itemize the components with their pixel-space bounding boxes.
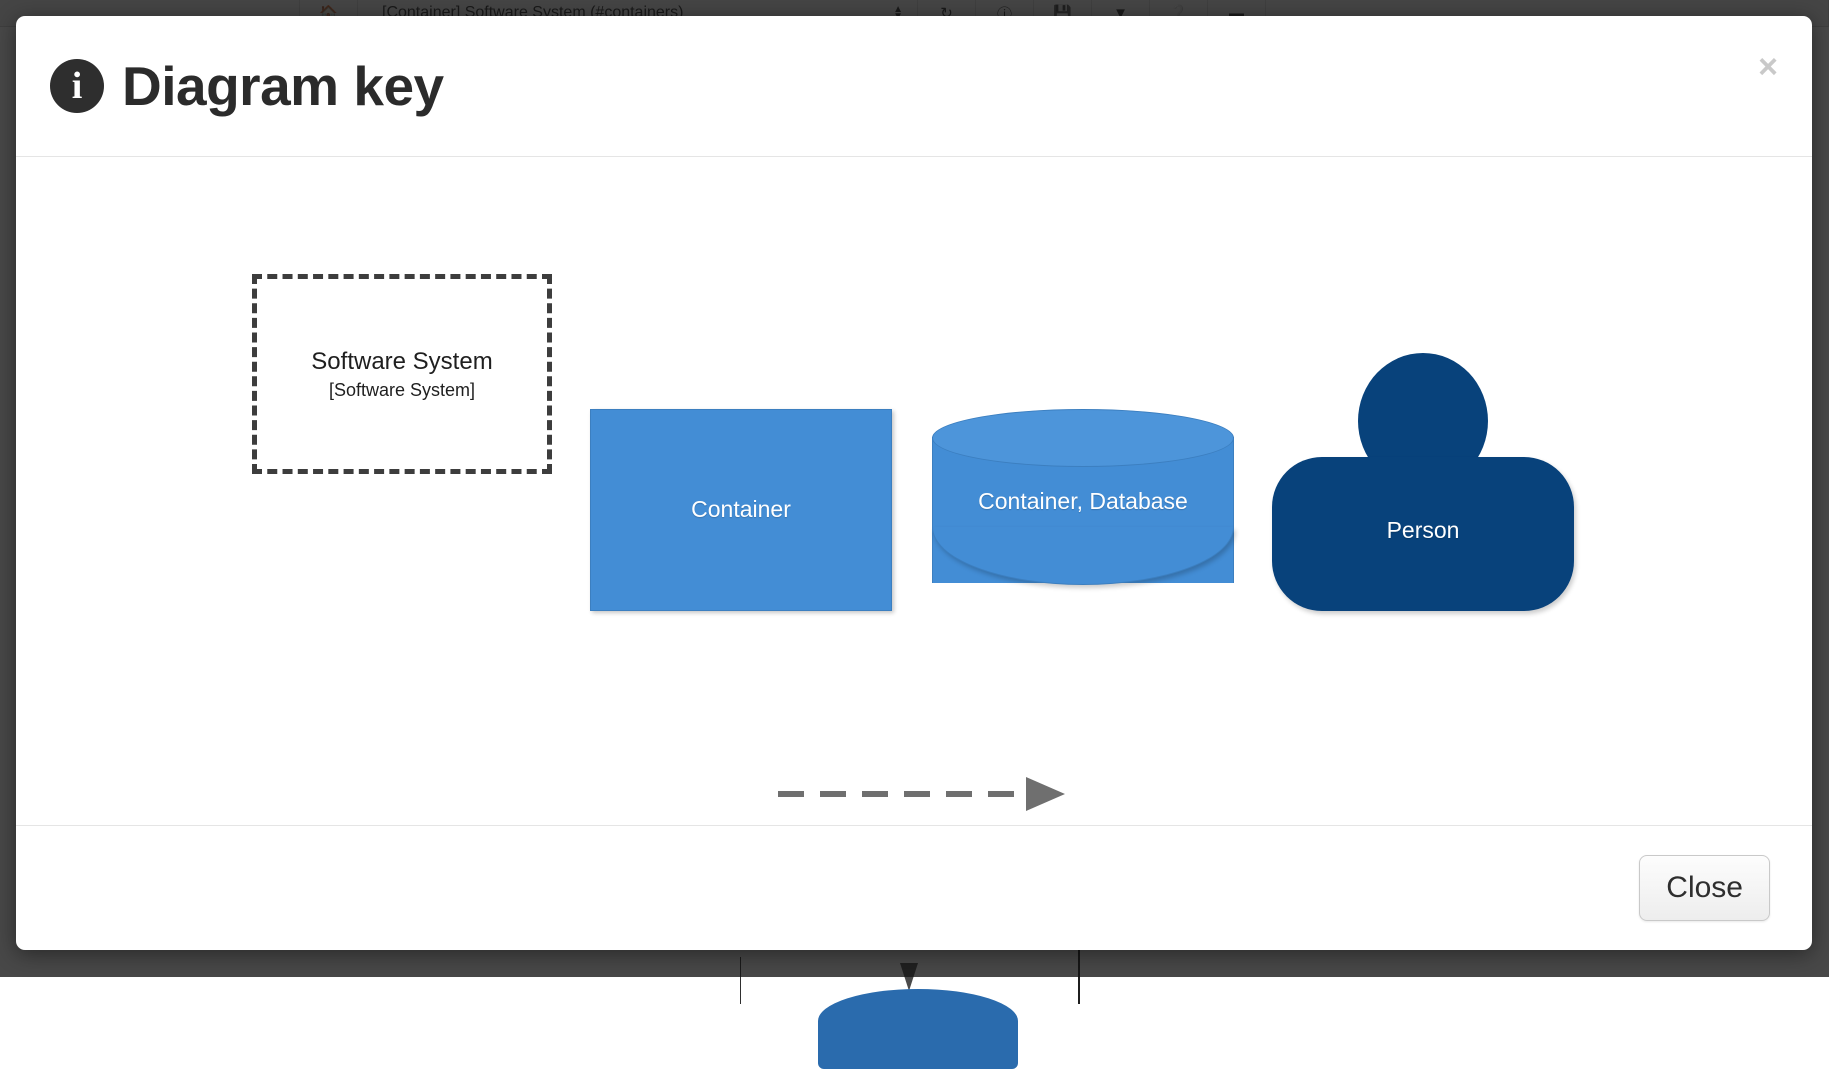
close-button[interactable]: Close	[1639, 855, 1770, 921]
cylinder-top-ellipse	[932, 409, 1234, 467]
modal-footer: Close	[16, 825, 1812, 950]
relationship-dashed-line	[778, 791, 1026, 797]
diagram-key-canvas: Software System [Software System] Contai…	[16, 157, 1812, 825]
modal-header: i Diagram key ×	[16, 16, 1812, 157]
modal-body: Software System [Software System] Contai…	[16, 157, 1812, 825]
legend-shape-container: Container	[590, 409, 892, 611]
page-title: Diagram key	[122, 54, 444, 118]
relationship-arrowhead-icon	[1026, 777, 1065, 811]
person-body-icon	[1272, 457, 1574, 611]
legend-label-container: Container	[691, 496, 791, 524]
close-icon[interactable]: ×	[1758, 50, 1778, 84]
legend-shape-container-database: Container, Database	[932, 409, 1234, 611]
legend-label-software-system: Software System	[311, 347, 492, 377]
legend-shape-person: Person	[1272, 353, 1574, 611]
info-icon: i	[50, 59, 104, 113]
legend-sublabel-software-system: [Software System]	[329, 380, 475, 401]
legend-shape-software-system: Software System [Software System]	[252, 274, 552, 474]
diagram-key-modal: i Diagram key × Software System [Softwar…	[16, 16, 1812, 950]
background-element-shape	[818, 989, 1018, 1069]
